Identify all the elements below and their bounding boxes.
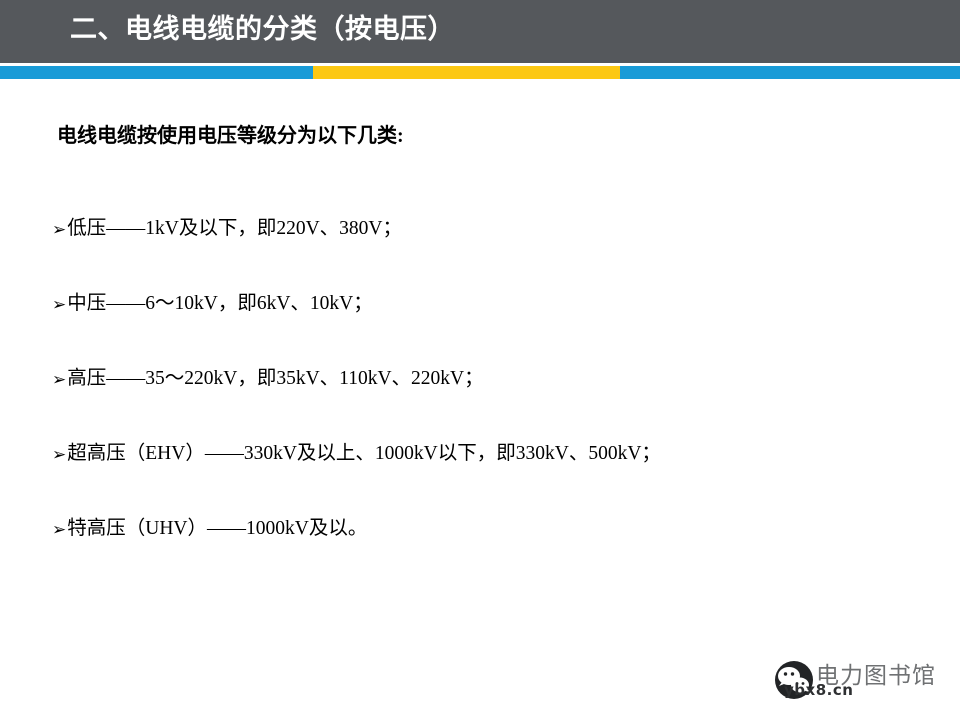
list-item: ➢ 特高压（UHV）——1000kV及以。 [52,519,912,594]
list-item-label: 特高压（UHV）——1000kV及以。 [67,519,367,539]
voltage-class-list: ➢ 低压——1kV及以下，即220V、380V； ➢ 中压——6～10kV，即6… [52,219,912,594]
arrow-bullet-icon: ➢ [52,372,66,389]
accent-segment-middle [313,66,620,79]
watermark-url: ybx8.cn [784,683,853,698]
arrow-bullet-icon: ➢ [52,447,66,464]
accent-segment-left [0,66,313,79]
list-item: ➢ 高压——35～220kV，即35kV、110kV、220kV； [52,369,912,444]
list-item-label: 低压——1kV及以下，即220V、380V； [67,219,402,239]
accent-rule [0,66,960,79]
watermark: 电力图书馆 ybx8.cn [772,658,952,710]
list-item: ➢ 中压——6～10kV，即6kV、10kV； [52,294,912,369]
arrow-bullet-icon: ➢ [52,222,66,239]
page-title: 二、电线电缆的分类（按电压） [70,16,455,43]
list-item-label: 超高压（EHV）——330kV及以上、1000kV以下，即330kV、500kV… [67,444,661,464]
intro-text: 电线电缆按使用电压等级分为以下几类: [57,126,404,146]
slide-header-band: 二、电线电缆的分类（按电压） [0,0,960,63]
arrow-bullet-icon: ➢ [52,522,66,539]
list-item: ➢ 超高压（EHV）——330kV及以上、1000kV以下，即330kV、500… [52,444,912,519]
accent-segment-right [620,66,960,79]
slide-body: 电线电缆按使用电压等级分为以下几类: ➢ 低压——1kV及以下，即220V、38… [0,79,960,720]
list-item: ➢ 低压——1kV及以下，即220V、380V； [52,219,912,294]
list-item-label: 高压——35～220kV，即35kV、110kV、220kV； [67,369,483,389]
slide-root: 二、电线电缆的分类（按电压） 电线电缆按使用电压等级分为以下几类: ➢ 低压——… [0,0,960,720]
arrow-bullet-icon: ➢ [52,297,66,314]
list-item-label: 中压——6～10kV，即6kV、10kV； [67,294,373,314]
